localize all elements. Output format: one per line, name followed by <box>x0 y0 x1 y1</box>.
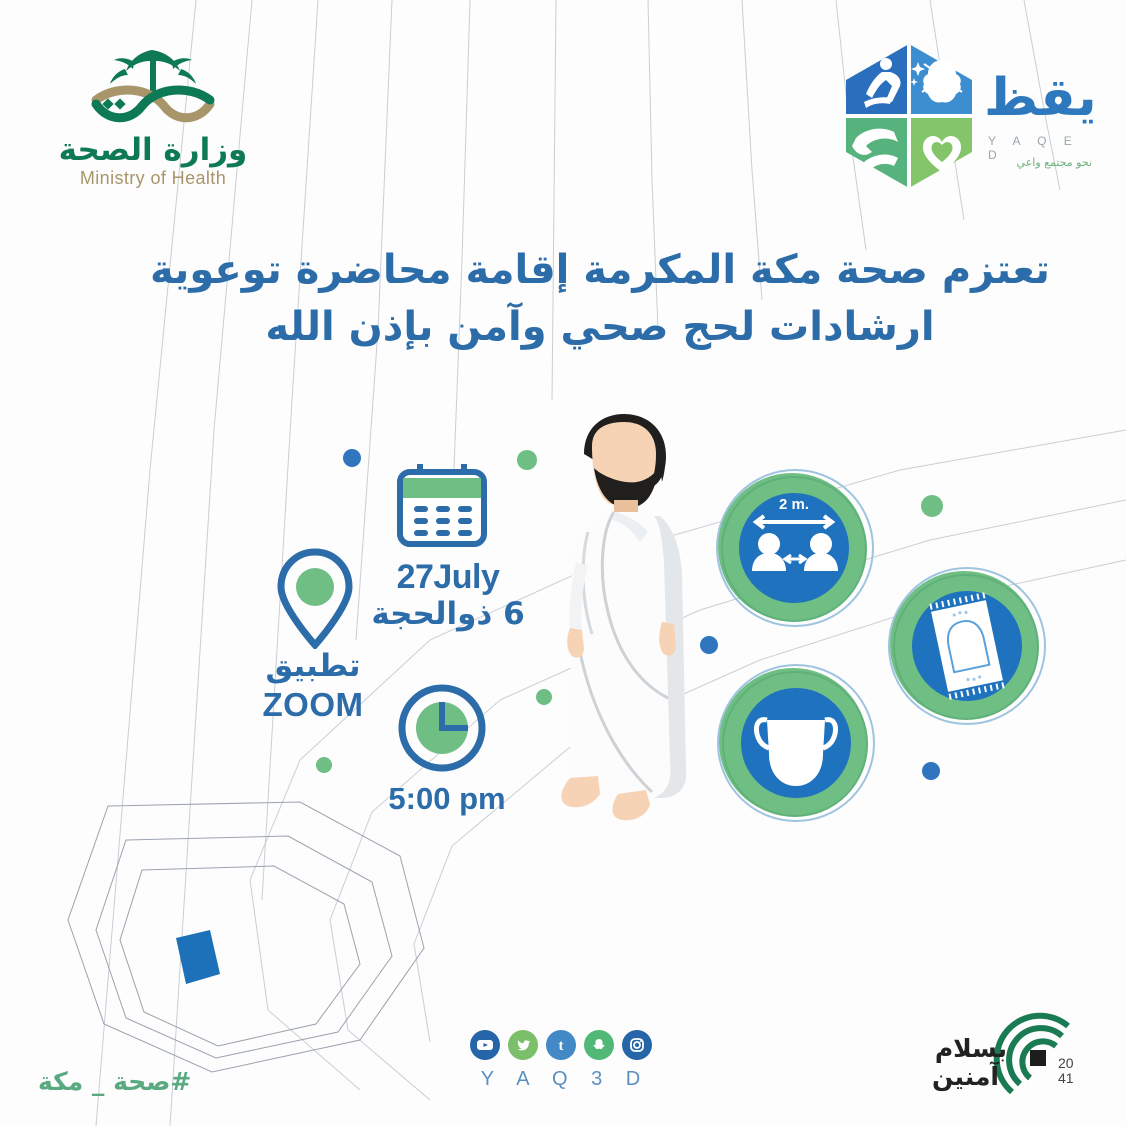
pilgrim-in-ihram-illustration <box>536 412 716 822</box>
prayer-mat-badge <box>886 565 1048 727</box>
salam-arabic-line-2: آمنين <box>932 1062 999 1091</box>
place-label-platform: ZOOM <box>238 686 388 724</box>
time-value: 5:00 pm <box>362 781 532 817</box>
snapchat-icon[interactable] <box>584 1030 614 1060</box>
poster-canvas: وزارة الصحة Ministry of Health <box>0 0 1126 1126</box>
salam-year-number: 20 41 <box>1058 1056 1074 1085</box>
instagram-icon[interactable] <box>622 1030 652 1060</box>
calendar-icon <box>394 460 490 550</box>
youtube-icon[interactable] <box>470 1030 500 1060</box>
place-label-arabic: تطبيق <box>238 648 388 684</box>
social-distancing-badge: 2 m. <box>714 467 876 629</box>
tumblr-icon[interactable]: t <box>546 1030 576 1060</box>
salam-arabic-line-1: بسلام <box>935 1034 1007 1063</box>
social-links: t <box>470 1025 660 1065</box>
salam-year-bottom: 41 <box>1058 1071 1074 1086</box>
hashtag: #صحة _ مكة <box>38 1067 191 1096</box>
face-mask-badge <box>715 662 877 824</box>
clock-icon <box>397 683 487 773</box>
date-gregorian: 27July <box>368 558 528 597</box>
besalam-aminin-logo: بسلام آمنين 20 41 <box>900 1008 1095 1108</box>
twitter-icon[interactable] <box>508 1030 538 1060</box>
svg-text:t: t <box>559 1038 564 1054</box>
date-hijri: 6 ذوالحجة <box>368 596 528 632</box>
social-handle: Y A Q 3 D <box>460 1068 670 1091</box>
salam-year-top: 20 <box>1058 1056 1074 1071</box>
location-pin-icon <box>273 547 357 649</box>
distance-label: 2 m. <box>779 496 809 513</box>
